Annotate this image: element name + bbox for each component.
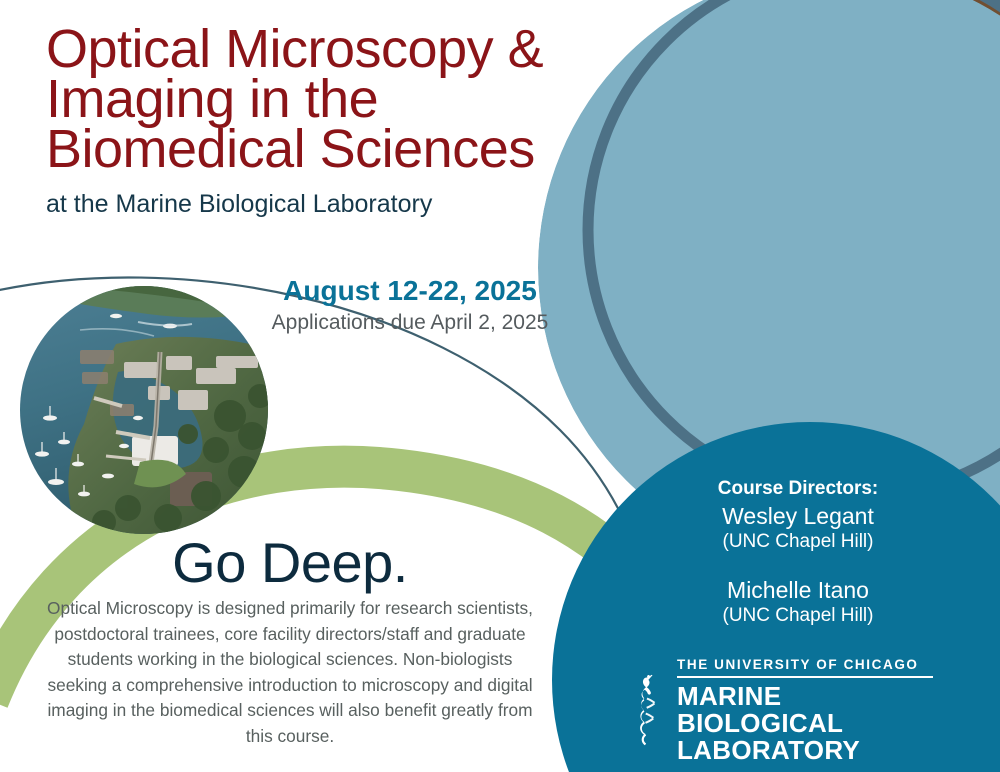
mbl-logo: THE UNIVERSITY OF CHICAGO MARINE BIOLOGI…	[633, 668, 933, 752]
page-title: Optical Microscopy & Imaging in the Biom…	[46, 24, 656, 174]
title-block: Optical Microscopy & Imaging in the Biom…	[46, 24, 656, 219]
director-2-name: Michelle Itano	[648, 576, 948, 604]
mbl-logo-university: THE UNIVERSITY OF CHICAGO	[677, 657, 933, 678]
dates-block: August 12-22, 2025 Applications due Apri…	[200, 275, 620, 335]
course-directors-label: Course Directors:	[648, 478, 948, 500]
tagline-headline: Go Deep.	[60, 533, 520, 593]
directors-spacer	[648, 554, 948, 576]
director-2-affiliation: (UNC Chapel Hill)	[648, 604, 948, 628]
mbl-logo-name: MARINE BIOLOGICAL LABORATORY	[677, 678, 933, 764]
course-description: Optical Microscopy is designed primarily…	[40, 596, 540, 749]
director-1-affiliation: (UNC Chapel Hill)	[648, 530, 948, 554]
poster-canvas: Optical Microscopy & Imaging in the Biom…	[0, 0, 1000, 772]
seahorse-dna-icon	[633, 673, 665, 747]
page-subtitle: at the Marine Biological Laboratory	[46, 190, 656, 219]
director-1-name: Wesley Legant	[648, 502, 948, 530]
course-dates: August 12-22, 2025	[200, 275, 620, 307]
course-directors-block: Course Directors: Wesley Legant (UNC Cha…	[648, 478, 948, 628]
application-deadline: Applications due April 2, 2025	[200, 311, 620, 335]
mbl-logo-wordmark: THE UNIVERSITY OF CHICAGO MARINE BIOLOGI…	[677, 657, 933, 764]
